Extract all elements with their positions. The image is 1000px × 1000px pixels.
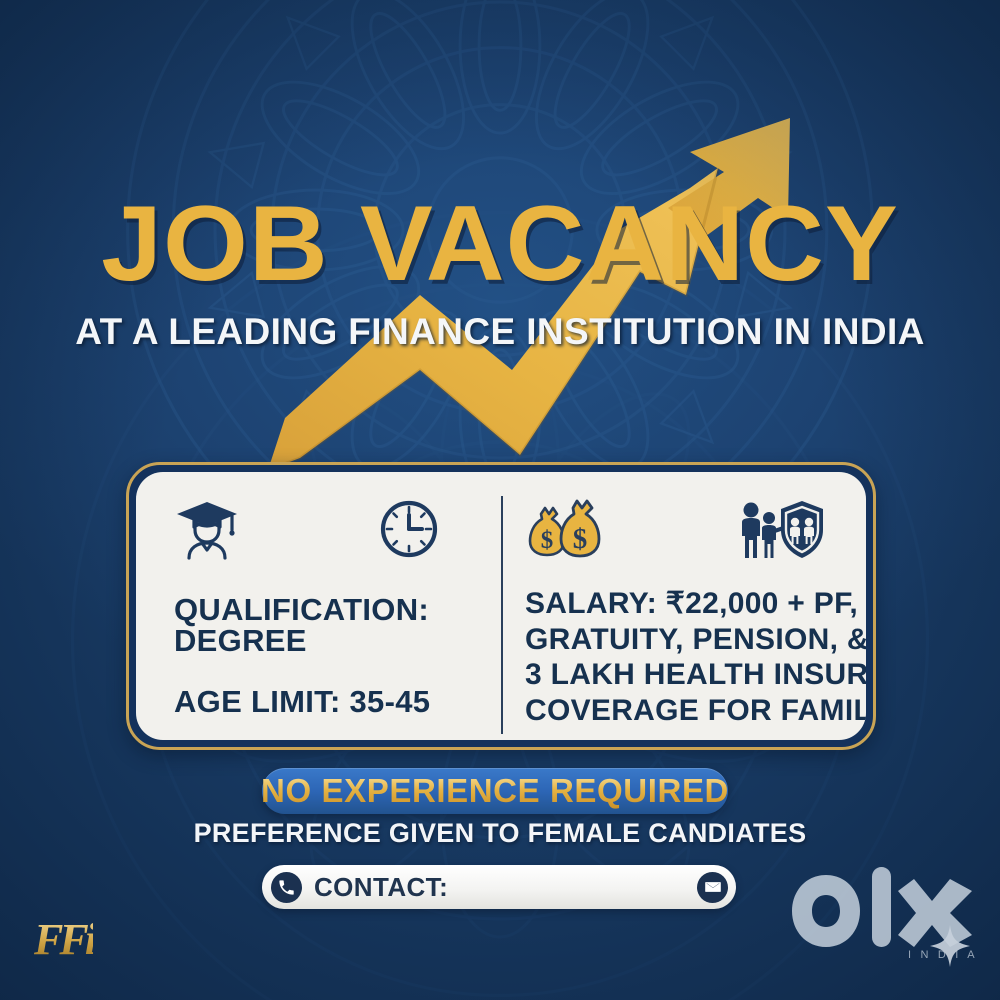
olx-watermark: I N D I A [790, 863, 980, 972]
details-card-inner: QUALIFICATION: DEGREE AGE LIMIT: 35-45 $ [136, 472, 866, 740]
salary-line: SALARY: ₹22,000 + PF, [525, 586, 866, 622]
age-limit-line: AGE LIMIT: 35-45 [174, 686, 477, 717]
family-shield-icon [736, 498, 824, 562]
qualification-column: QUALIFICATION: DEGREE AGE LIMIT: 35-45 [136, 472, 491, 740]
headline-block: JOB VACANCY AT A LEADING FINANCE INSTITU… [0, 192, 1000, 353]
ffi-logo: FFi [34, 914, 93, 965]
benefits-icons: $ $ [525, 498, 866, 564]
benefits-lines: SALARY: ₹22,000 + PF, GRATUITY, PENSION,… [525, 586, 866, 729]
qualification-icons [174, 498, 477, 564]
preference-note: PREFERENCE GIVEN TO FEMALE CANDIATES [0, 818, 1000, 849]
svg-text:$: $ [541, 527, 554, 554]
page-subtitle: AT A LEADING FINANCE INSTITUTION IN INDI… [0, 311, 1000, 353]
health-insurance-line: 3 LAKH HEALTH INSURANCE [525, 657, 866, 693]
money-bags-icon: $ $ [525, 498, 601, 560]
page-title: JOB VACANCY [0, 192, 1000, 295]
qualification-line: QUALIFICATION: DEGREE [174, 594, 477, 656]
no-experience-label: NO EXPERIENCE REQUIRED [261, 772, 729, 810]
benefits-column: $ $ [491, 472, 866, 740]
contact-label: CONTACT: [314, 872, 448, 903]
ffi-logo-text: FFi [34, 915, 93, 964]
no-experience-banner: NO EXPERIENCE REQUIRED [262, 768, 728, 814]
coverage-line: COVERAGE FOR FAMILY [525, 693, 866, 729]
svg-text:$: $ [573, 523, 588, 555]
qualification-lines: QUALIFICATION: DEGREE AGE LIMIT: 35-45 [174, 594, 477, 717]
job-vacancy-poster: JOB VACANCY AT A LEADING FINANCE INSTITU… [0, 0, 1000, 1000]
contact-bar[interactable]: CONTACT: [262, 865, 736, 909]
envelope-icon [697, 872, 728, 903]
clock-icon [378, 498, 440, 560]
phone-icon [271, 872, 302, 903]
graduate-cap-icon [174, 498, 240, 560]
details-card: QUALIFICATION: DEGREE AGE LIMIT: 35-45 $ [126, 462, 876, 750]
gratuity-line: GRATUITY, PENSION, & [525, 622, 866, 658]
